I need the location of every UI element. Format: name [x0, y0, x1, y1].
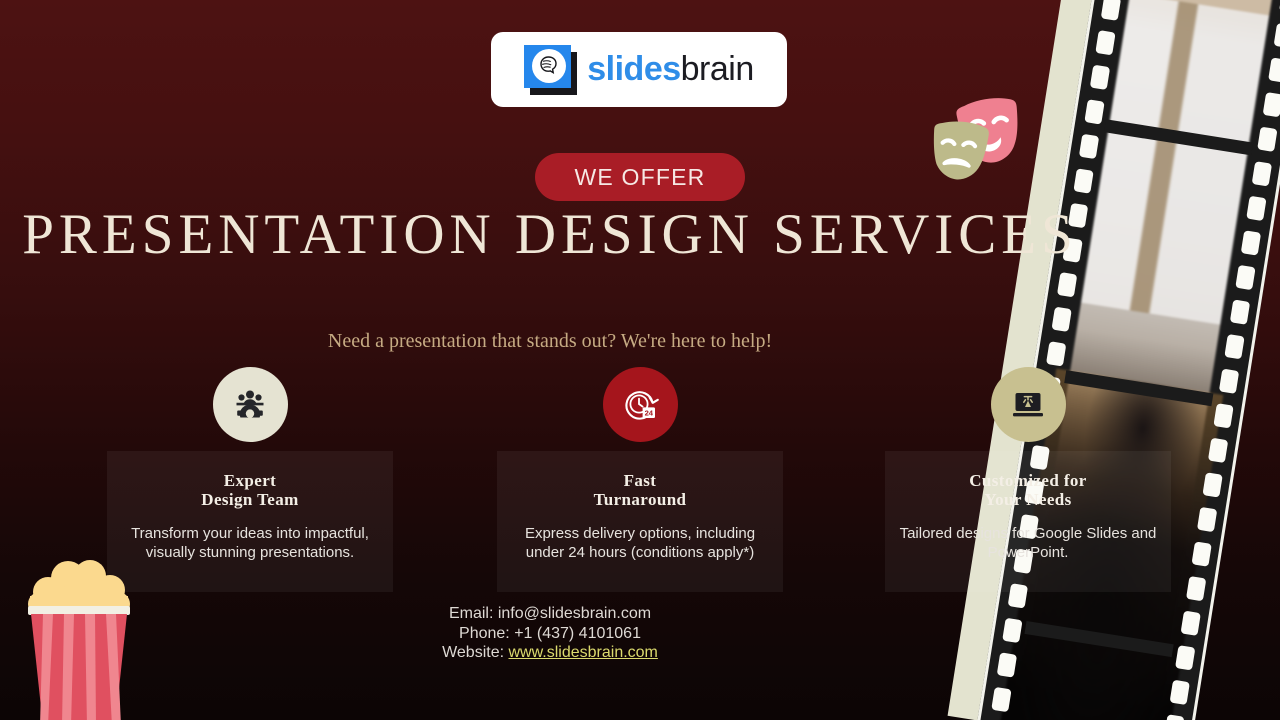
feature-body: Express delivery options, including unde…	[507, 524, 773, 562]
slide-canvas: slidesbrain WE OFFER PRESENTATION DESIGN…	[0, 0, 1280, 720]
film-perforation	[1235, 265, 1255, 290]
svg-text:24: 24	[645, 408, 654, 417]
film-perforation	[991, 687, 1011, 712]
film-perforation	[1191, 541, 1211, 566]
team-gear-icon	[213, 367, 288, 442]
film-perforation	[1084, 99, 1104, 124]
feature-column-customized-for-your-needs: Customized for Your Needs Tailored desig…	[885, 367, 1171, 592]
feature-title-line2: Turnaround	[594, 490, 687, 509]
film-perforation	[1101, 0, 1121, 21]
logo-text-slides: slides	[587, 50, 680, 88]
film-perforation	[1095, 30, 1115, 55]
film-perforation	[1213, 403, 1233, 428]
film-perforation	[1208, 438, 1228, 463]
page-subtitle: Need a presentation that stands out? We'…	[0, 330, 1280, 353]
film-perforation	[1230, 299, 1250, 324]
contact-website: Website: www.slidesbrain.com	[0, 643, 1100, 663]
film-perforation	[1268, 57, 1280, 82]
theater-masks-icon	[925, 96, 1050, 201]
film-perforation	[1197, 507, 1217, 532]
film-perforation	[1263, 92, 1280, 117]
feature-title-line1: Customized for	[969, 471, 1087, 490]
feature-title-line1: Expert	[224, 471, 276, 490]
contact-email: Email: info@slidesbrain.com	[0, 604, 1100, 624]
brain-in-square-icon	[524, 45, 577, 95]
contact-phone: Phone: +1 (437) 4101061	[0, 624, 1100, 644]
feature-title-line2: Design Team	[201, 490, 298, 509]
feature-card: Fast Turnaround Express delivery options…	[497, 451, 783, 592]
page-title: PRESENTATION DESIGN SERVICES	[0, 205, 1280, 265]
film-perforation	[1051, 307, 1071, 332]
logo-text-brain: brain	[681, 50, 754, 88]
film-perforation	[1252, 161, 1272, 186]
feature-card: Customized for Your Needs Tailored desig…	[885, 451, 1171, 592]
feature-body: Transform your ideas into impactful, vis…	[117, 524, 383, 562]
contact-block: Email: info@slidesbrain.com Phone: +1 (4…	[0, 604, 1280, 663]
laptop-design-icon	[991, 367, 1066, 442]
feature-title-line2: Your Needs	[984, 490, 1071, 509]
feature-column-fast-turnaround: 24 Fast Turnaround Express delivery opti…	[497, 367, 783, 592]
film-perforation	[1170, 680, 1190, 705]
brand-logo-text: slidesbrain	[587, 50, 754, 89]
film-perforation	[1219, 369, 1239, 394]
film-perforation	[1202, 472, 1222, 497]
feature-title-line1: Fast	[624, 471, 657, 490]
film-perforation	[1164, 714, 1184, 720]
contact-website-label: Website:	[442, 644, 508, 661]
film-perforation	[1090, 65, 1110, 90]
clock-24-hours-icon: 24	[603, 367, 678, 442]
film-perforation	[1073, 168, 1093, 193]
film-perforation	[1257, 127, 1277, 152]
film-perforation	[1079, 134, 1099, 159]
film-perforation	[1057, 272, 1077, 297]
feature-column-expert-design-team: Expert Design Team Transform your ideas …	[107, 367, 393, 592]
we-offer-badge: WE OFFER	[535, 153, 745, 201]
film-perforation	[1186, 576, 1206, 601]
website-link[interactable]: www.slidesbrain.com	[509, 644, 658, 661]
brand-logo[interactable]: slidesbrain	[491, 32, 787, 107]
feature-body: Tailored designs for Google Slides and P…	[895, 524, 1161, 562]
we-offer-badge-label: WE OFFER	[575, 164, 706, 191]
film-perforation	[1274, 23, 1280, 48]
popcorn-bucket-icon	[18, 548, 140, 720]
feature-card: Expert Design Team Transform your ideas …	[107, 451, 393, 592]
